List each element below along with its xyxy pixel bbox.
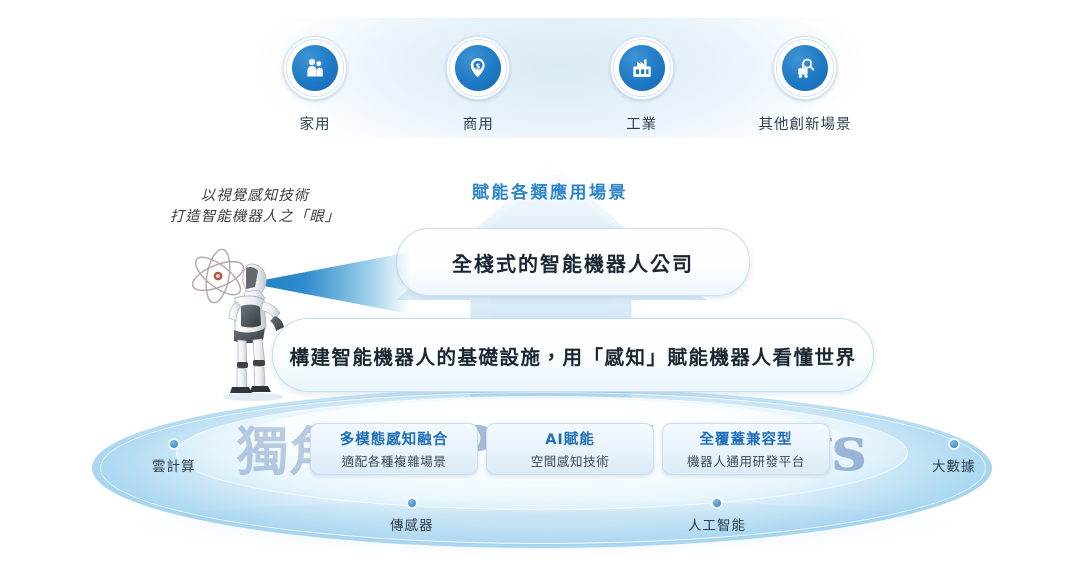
foundation-node-cloud-computing[interactable]: 雲計算 <box>152 440 196 475</box>
node-label: 雲計算 <box>152 455 196 475</box>
family-icon <box>292 45 338 91</box>
scenario-label: 家用 <box>300 113 331 134</box>
capability-subtitle: 適配各種複雜場景 <box>342 451 447 470</box>
tier2-label: 構建智能機器人的基礎設施，用「感知」賦能機器人看懂世界 <box>289 341 856 370</box>
scenario-item-innovation[interactable]: 其他創新場景 <box>730 36 880 134</box>
capability-title: AI賦能 <box>545 428 595 449</box>
factory-icon <box>619 45 665 91</box>
foundation-node-big-data[interactable]: 大數據 <box>932 440 976 475</box>
tier1-company-banner: 全棧式的智能機器人公司 <box>396 228 750 296</box>
location-pin-dollar-icon: $ <box>455 45 501 91</box>
node-dot-icon <box>408 499 416 507</box>
scenario-label: 工業 <box>626 113 657 134</box>
node-dot-icon <box>713 499 721 507</box>
vision-annotation-line1: 以視覺感知技術 <box>160 186 350 207</box>
node-dot-icon <box>950 440 958 448</box>
infographic-canvas: 家用 $ 商用 <box>0 0 1080 563</box>
svg-text:$: $ <box>476 61 481 70</box>
scenario-label: 商用 <box>463 113 494 134</box>
capability-title: 多模態感知融合 <box>340 428 449 449</box>
scenario-item-commercial[interactable]: $ 商用 <box>403 36 553 134</box>
capability-title: 全覆蓋兼容型 <box>700 428 793 449</box>
humanoid-robot-illustration <box>205 258 301 403</box>
arrow-caption: 賦能各類應用場景 <box>430 178 670 203</box>
node-label: 傳感器 <box>390 514 434 534</box>
vision-annotation-line2: 打造智能機器人之「眼」 <box>160 207 350 228</box>
scenario-item-industrial[interactable]: 工業 <box>567 36 717 134</box>
foundation-node-artificial-intelligence[interactable]: 人工智能 <box>688 499 746 534</box>
icon-ring <box>610 36 674 100</box>
robot-innovation-icon <box>782 45 828 91</box>
node-label: 大數據 <box>932 455 976 475</box>
foundation-node-sensor[interactable]: 傳感器 <box>390 499 434 534</box>
capability-chips-row: 多模態感知融合 適配各種複雜場景 AI賦能 空間感知技術 全覆蓋兼容型 機器人通… <box>310 423 830 475</box>
node-label: 人工智能 <box>688 514 746 534</box>
capability-subtitle: 空間感知技術 <box>531 451 610 470</box>
vision-annotation: 以視覺感知技術 打造智能機器人之「眼」 <box>160 186 350 228</box>
capability-chip[interactable]: AI賦能 空間感知技術 <box>486 423 654 475</box>
scenario-label: 其他創新場景 <box>758 113 851 134</box>
tier2-infrastructure-banner: 構建智能機器人的基礎設施，用「感知」賦能機器人看懂世界 <box>272 318 874 392</box>
capability-chip[interactable]: 多模態感知融合 適配各種複雜場景 <box>310 423 478 475</box>
application-scenarios-row: 家用 $ 商用 <box>240 36 880 146</box>
icon-ring: $ <box>446 36 510 100</box>
tier1-label: 全棧式的智能機器人公司 <box>452 248 694 277</box>
icon-ring <box>773 36 837 100</box>
icon-ring <box>283 36 347 100</box>
node-dot-icon <box>170 440 178 448</box>
capability-chip[interactable]: 全覆蓋兼容型 機器人通用研發平台 <box>662 423 830 475</box>
scenario-item-home[interactable]: 家用 <box>240 36 390 134</box>
capability-subtitle: 機器人通用研發平台 <box>687 451 805 470</box>
